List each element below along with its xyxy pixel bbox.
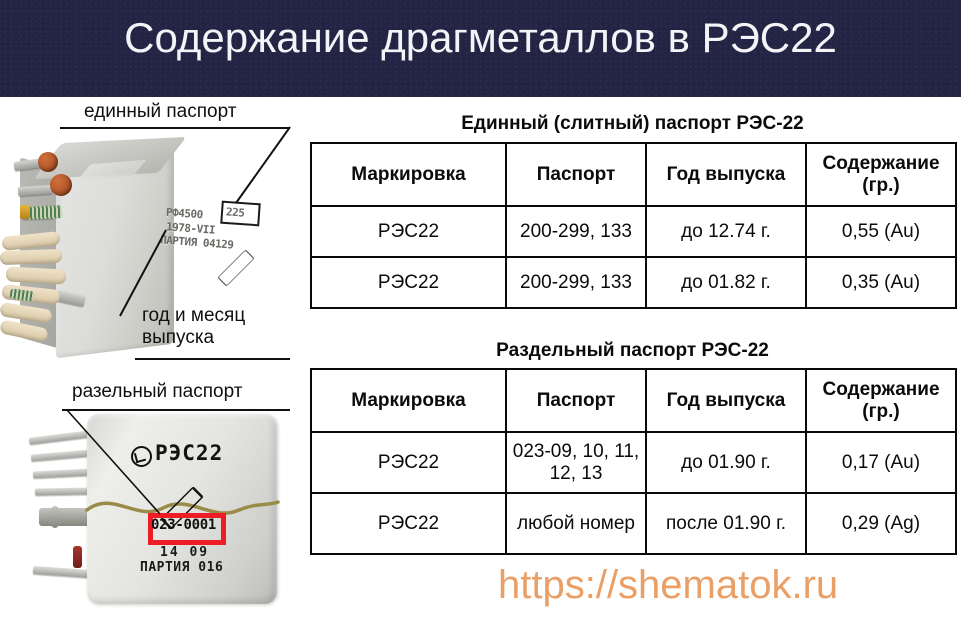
cell-marking: РЭС22 <box>311 206 506 257</box>
cell-marking: РЭС22 <box>311 257 506 308</box>
cell-marking: РЭС22 <box>311 493 506 554</box>
table-row: РЭС22 023-09, 10, 11, 12, 13 до 01.90 г.… <box>311 432 956 493</box>
column-header-year: Год выпуска <box>646 369 806 432</box>
cell-passport: 200-299, 133 <box>506 206 646 257</box>
cell-content: 0,55 (Au) <box>806 206 956 257</box>
relay2-serial-number: 023-0001 <box>151 517 216 533</box>
relay1-coil <box>26 205 63 220</box>
cell-year: до 01.82 г. <box>646 257 806 308</box>
relay1-capacitor <box>38 152 58 172</box>
relay2-pin <box>33 566 91 578</box>
cell-content: 0,35 (Au) <box>806 257 956 308</box>
relay1-wire-bundle <box>6 266 67 284</box>
cell-passport: любой номер <box>506 493 646 554</box>
annotation-separate-passport: разельный паспорт <box>72 381 242 403</box>
page-title: Содержание драгметаллов в РЭС22 <box>0 14 961 62</box>
relay2-red-lead <box>73 546 82 568</box>
relay1-marking-boxed-value: 225 <box>226 205 245 219</box>
table-2-caption: Раздельный паспорт РЭС-22 <box>310 340 955 362</box>
page-root: Содержание драгметаллов в РЭС22 единный … <box>0 0 961 619</box>
table-header-row: Маркировка Паспорт Год выпуска Содержани… <box>311 143 956 206</box>
relay1-marking-code: РФ4500 <box>166 206 204 222</box>
column-header-marking: Маркировка <box>311 143 506 206</box>
column-header-content: Содержание (гр.) <box>806 143 956 206</box>
relay1-diode <box>20 205 30 219</box>
leader-line-separate <box>65 408 185 518</box>
table-1-caption: Единный (слитный) паспорт РЭС-22 <box>310 113 955 135</box>
relay2-batch-label: ПАРТИЯ 016 <box>140 560 223 575</box>
cell-passport: 200-299, 133 <box>506 257 646 308</box>
leader-line-unified <box>228 125 298 205</box>
cell-passport: 023-09, 10, 11, 12, 13 <box>506 432 646 493</box>
column-header-passport: Паспорт <box>506 369 646 432</box>
annotation-year-month-rule <box>135 358 290 360</box>
annotation-year-month-line2: выпуска <box>142 327 214 349</box>
table-row: РЭС22 любой номер после 01.90 г. 0,29 (A… <box>311 493 956 554</box>
table-header-row: Маркировка Паспорт Год выпуска Содержани… <box>311 369 956 432</box>
relay1-capacitor <box>50 174 72 196</box>
site-watermark: https://shematok.ru <box>498 563 838 608</box>
cell-year: до 01.90 г. <box>646 432 806 493</box>
cell-content: 0,17 (Au) <box>806 432 956 493</box>
cell-marking: РЭС22 <box>311 432 506 493</box>
column-header-year: Год выпуска <box>646 143 806 206</box>
header-banner: Содержание драгметаллов в РЭС22 <box>0 0 961 97</box>
relay2-mounting-stud <box>49 506 61 528</box>
cell-year: до 12.74 г. <box>646 206 806 257</box>
leader-line-year-month <box>110 228 170 318</box>
table-unified-passport: Маркировка Паспорт Год выпуска Содержани… <box>310 142 957 309</box>
cell-content: 0,29 (Ag) <box>806 493 956 554</box>
relay1-diamond-stamp <box>217 249 254 286</box>
cell-year: после 01.90 г. <box>646 493 806 554</box>
relay2-date-code: 14 09 <box>160 545 209 560</box>
column-header-content: Содержание (гр.) <box>806 369 956 432</box>
relay1-wire-bundle <box>0 249 62 265</box>
column-header-marking: Маркировка <box>311 369 506 432</box>
table-row: РЭС22 200-299, 133 до 01.82 г. 0,35 (Au) <box>311 257 956 308</box>
table-row: РЭС22 200-299, 133 до 12.74 г. 0,55 (Au) <box>311 206 956 257</box>
annotation-unified-passport: единный паспорт <box>84 101 236 123</box>
table-separate-passport: Маркировка Паспорт Год выпуска Содержани… <box>310 368 957 555</box>
column-header-passport: Паспорт <box>506 143 646 206</box>
